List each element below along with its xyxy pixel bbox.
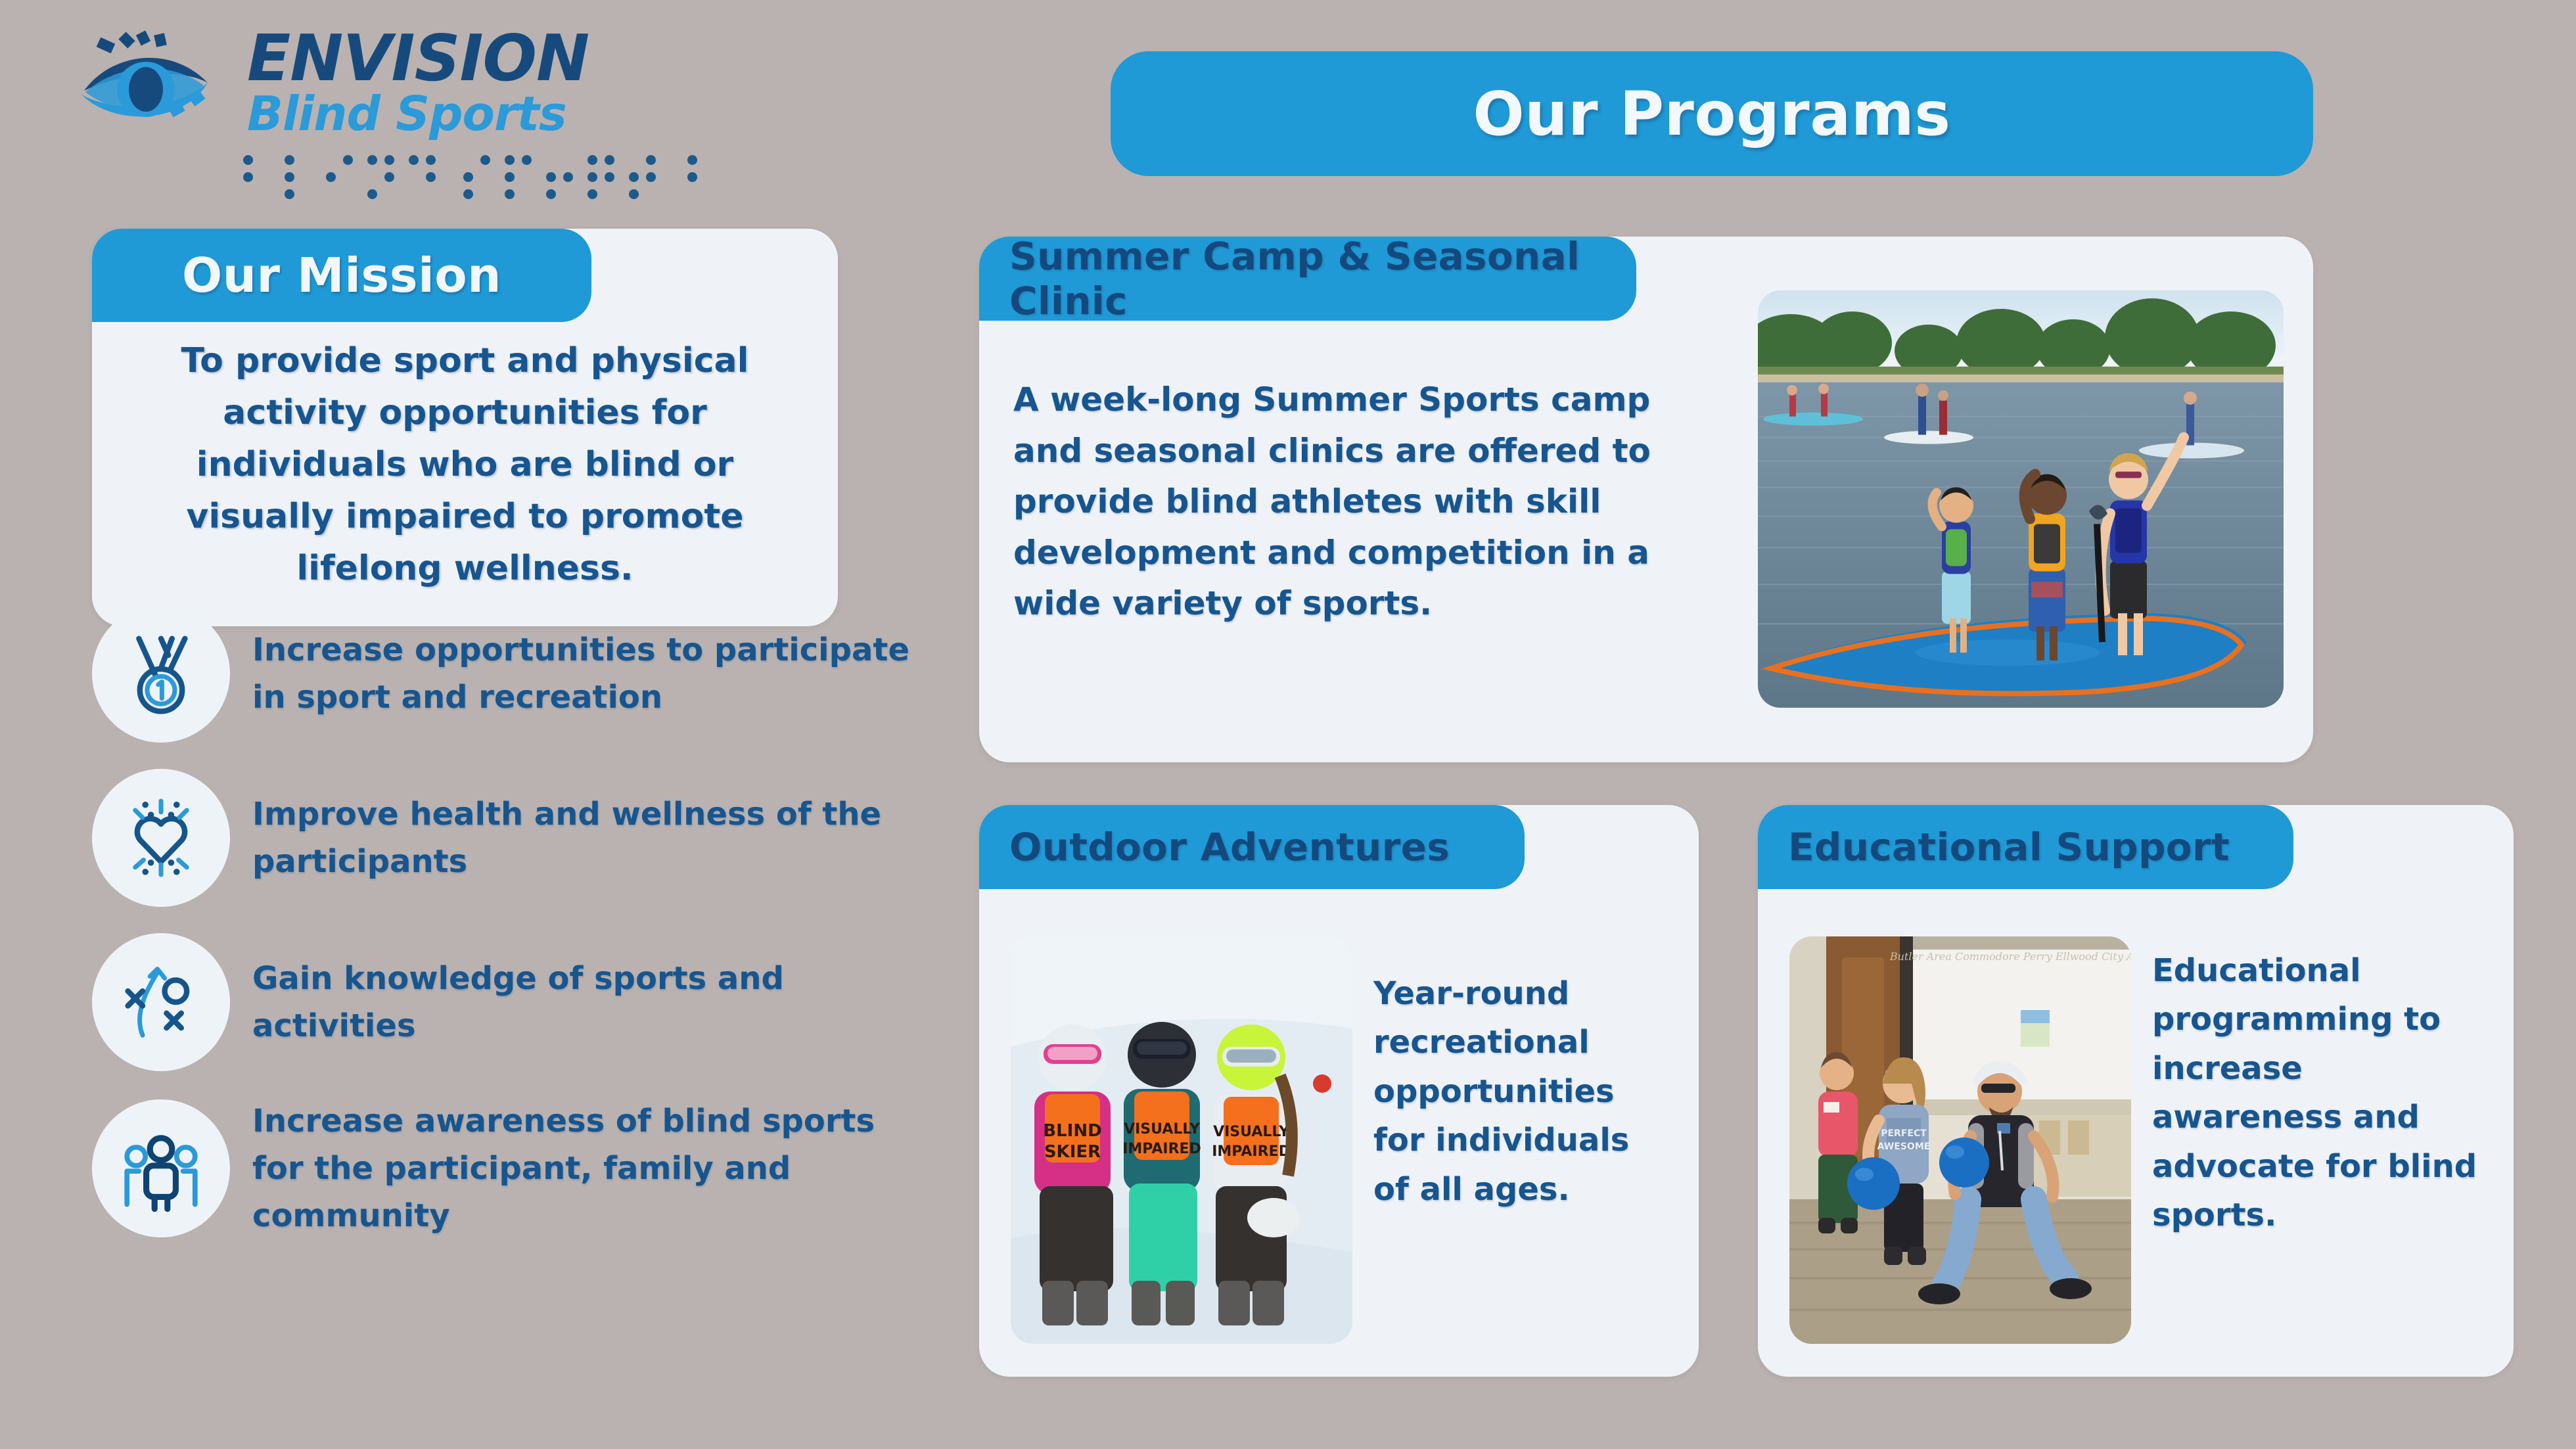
list-item: Improve health and wellness of the parti…: [92, 769, 913, 907]
page-title-label: Our Programs: [1473, 79, 1950, 149]
adaptive-skiers-photo: BLIND SKIER VISUALLY IMPAIRED: [1011, 936, 1352, 1344]
svg-text:Butler Area Commodore Perry: Butler Area Commodore Perry Ellwood City…: [1889, 950, 2131, 963]
svg-text:VISUALLY: VISUALLY: [1213, 1124, 1290, 1140]
card-body-text: A week-long Summer Sports camp and seaso…: [1013, 375, 1730, 630]
infographic-page: ENVISION Blind Sports Our Mission To pro…: [0, 0, 2576, 1449]
svg-text:PERFECT: PERFECT: [1881, 1128, 1927, 1139]
goal-icon-badge: [92, 605, 230, 743]
program-card-educational-support: Educational Support Butler Area Commodor…: [1758, 805, 2514, 1377]
card-tab: Outdoor Adventures: [979, 805, 1525, 889]
svg-text:IMPAIRED: IMPAIRED: [1122, 1141, 1201, 1157]
goalball-clinic-photo: Butler Area Commodore Perry Ellwood City…: [1789, 936, 2131, 1344]
svg-text:IMPAIRED: IMPAIRED: [1212, 1143, 1291, 1160]
goal-label: Gain knowledge of sports and activities: [252, 955, 909, 1049]
mission-tab-label: Our Mission: [182, 248, 501, 303]
brand-logo: ENVISION Blind Sports: [72, 26, 598, 200]
medal-icon: [115, 628, 207, 720]
svg-text:BLIND: BLIND: [1043, 1121, 1101, 1141]
eye-icon: [72, 26, 230, 138]
goal-label: Increase awareness of blind sports for t…: [252, 1097, 909, 1239]
goal-label: Improve health and wellness of the parti…: [252, 791, 909, 885]
card-tab: Educational Support: [1758, 805, 2293, 889]
mission-body: To provide sport and physical activity o…: [92, 335, 838, 595]
list-item: Increase awareness of blind sports for t…: [92, 1097, 913, 1239]
mission-tab: Our Mission: [92, 229, 591, 322]
goal-icon-badge: [92, 769, 230, 907]
card-body-text: Educational programming to increase awar…: [2152, 946, 2494, 1239]
program-card-summer-camp: Summer Camp & Seasonal Clinic A week-lon…: [979, 237, 2313, 762]
paddleboarding-photo: [1758, 290, 2284, 708]
strategy-xo-icon: [115, 956, 207, 1048]
heart-shine-icon: [115, 792, 207, 884]
list-item: Increase opportunities to participate in…: [92, 605, 913, 743]
card-tab-label: Summer Camp & Seasonal Clinic: [1009, 234, 1636, 323]
page-title: Our Programs: [1111, 51, 2313, 176]
people-group-icon: [115, 1122, 207, 1214]
svg-text:AWESOME: AWESOME: [1877, 1141, 1931, 1152]
brand-name-secondary: Blind Sports: [247, 91, 589, 136]
goal-icon-badge: [92, 1099, 230, 1237]
mission-goals-list: Increase opportunities to participate in…: [92, 605, 913, 1266]
card-tab-label: Educational Support: [1788, 825, 2230, 869]
brand-name-primary: ENVISION: [247, 28, 589, 89]
svg-text:VISUALLY: VISUALLY: [1124, 1121, 1201, 1138]
braille-label: [243, 155, 598, 200]
list-item: Gain knowledge of sports and activities: [92, 933, 913, 1071]
mission-card: Our Mission To provide sport and physica…: [92, 229, 838, 626]
card-body-text: Year-round recreational opportunities fo…: [1373, 969, 1669, 1214]
goal-label: Increase opportunities to participate in…: [252, 626, 909, 721]
goal-icon-badge: [92, 933, 230, 1071]
card-tab: Summer Camp & Seasonal Clinic: [979, 237, 1636, 321]
svg-text:SKIER: SKIER: [1044, 1142, 1101, 1162]
card-tab-label: Outdoor Adventures: [1009, 825, 1450, 869]
program-card-outdoor-adventures: Outdoor Adventures BLIND SKIER: [979, 805, 1699, 1377]
